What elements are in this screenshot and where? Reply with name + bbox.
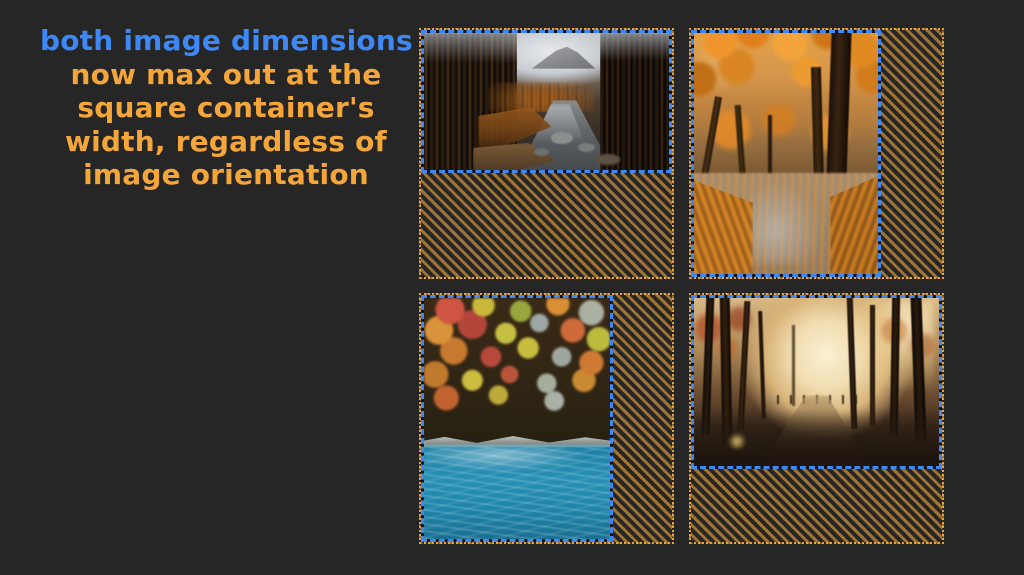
photo-autumn-path (694, 33, 878, 274)
image-frame-3[interactable] (421, 295, 613, 542)
square-container-1 (419, 28, 674, 279)
caption-text: both image dimensions now max out at the… (40, 24, 412, 192)
square-container-2 (689, 28, 944, 279)
square-container-4 (689, 293, 944, 544)
caption-line-2: now max out at the (40, 58, 412, 92)
image-frame-2[interactable] (691, 30, 881, 277)
caption-line-3: square container's (40, 91, 412, 125)
photo-misty-trail (694, 298, 939, 466)
photo-river-forest (424, 33, 669, 170)
photo-aerial-forest-water (424, 298, 610, 539)
image-frame-1[interactable] (421, 30, 672, 173)
caption-line-5: image orientation (40, 158, 412, 192)
square-container-3 (419, 293, 674, 544)
image-grid (419, 28, 944, 544)
caption-line-1: both image dimensions (40, 24, 412, 58)
screenshot-stage: both image dimensions now max out at the… (0, 0, 1024, 575)
caption-line-4: width, regardless of (40, 125, 412, 159)
image-frame-4[interactable] (691, 295, 942, 469)
